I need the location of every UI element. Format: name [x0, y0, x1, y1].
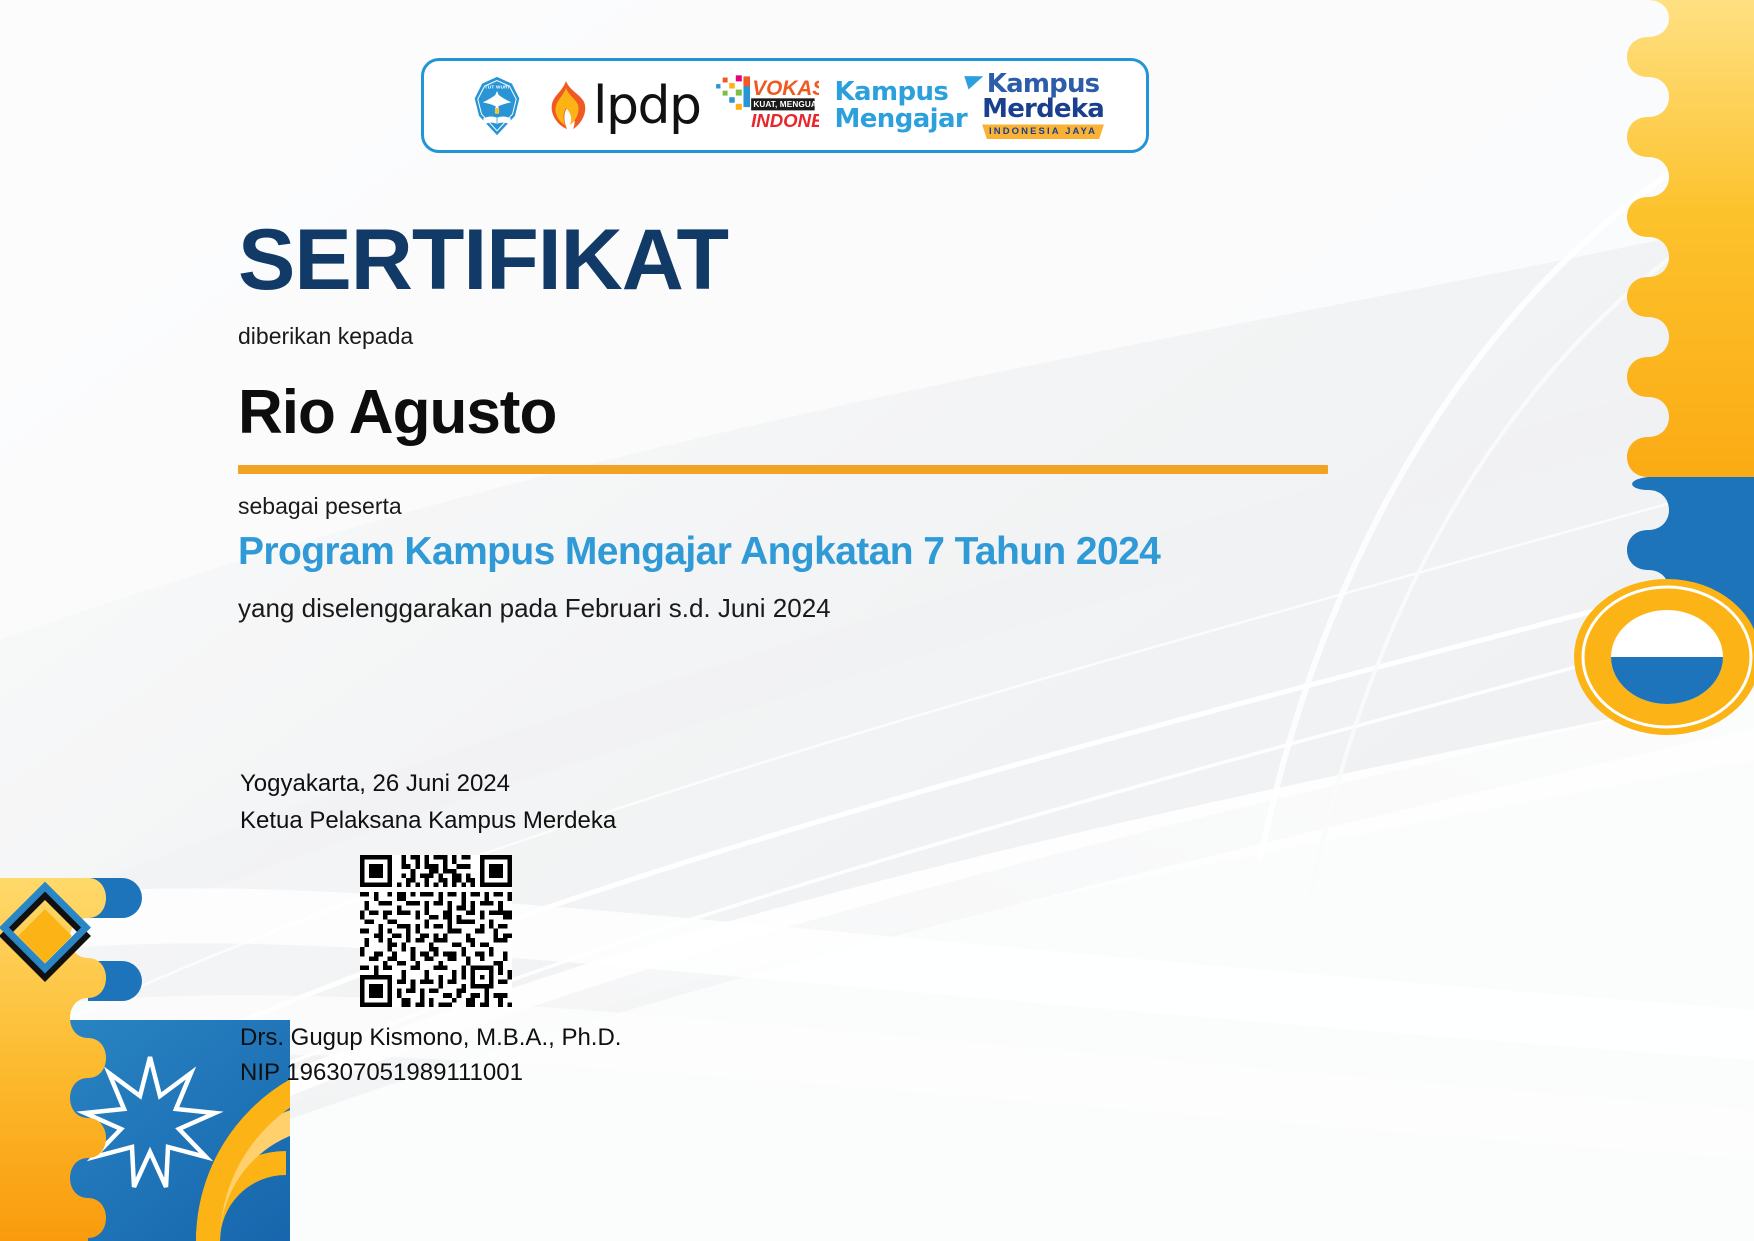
- certificate-canvas: TUT WURI lpdp: [0, 0, 1754, 1241]
- kampus-merdeka-logo: Kampus Merdeka INDONESIA JAYA: [982, 70, 1104, 142]
- kampus-merdeka-line2: Merdeka: [982, 97, 1104, 122]
- program-period: yang diselenggarakan pada Februari s.d. …: [238, 593, 1358, 624]
- signature-block: Yogyakarta, 26 Juni 2024 Ketua Pelaksana…: [240, 765, 621, 1091]
- tut-wuri-handayani-logo: TUT WURI: [466, 70, 528, 142]
- right-edge-decoration: [1544, 0, 1754, 790]
- svg-text:TUT WURI: TUT WURI: [485, 84, 510, 89]
- role-label: sebagai peserta: [238, 493, 1358, 520]
- place-and-date: Yogyakarta, 26 Juni 2024: [240, 765, 621, 802]
- certificate-title: SERTIFIKAT: [238, 215, 1358, 305]
- given-to-label: diberikan kepada: [238, 323, 1358, 350]
- orange-divider-rule: [238, 465, 1328, 474]
- lpdp-wordmark: lpdp: [593, 80, 700, 132]
- vokasi-logo: VOKASI KUAT, MENGUATKAN INDONESIA: [715, 70, 819, 142]
- kampus-merdeka-ribbon: INDONESIA JAYA: [982, 124, 1104, 139]
- recipient-name: Rio Agusto: [238, 380, 1358, 445]
- kampus-mengajar-logo: Kampus Mengajar: [834, 70, 967, 142]
- signer-nip: NIP 196307051989111001: [240, 1056, 621, 1091]
- signer-position: Ketua Pelaksana Kampus Merdeka: [240, 802, 621, 839]
- kampus-mengajar-line1: Kampus: [834, 79, 967, 106]
- program-name: Program Kampus Mengajar Angkatan 7 Tahun…: [238, 530, 1358, 575]
- orange-ring-decoration: [1574, 579, 1754, 735]
- svg-text:KUAT, MENGUATKAN: KUAT, MENGUATKAN: [754, 100, 820, 109]
- kampus-mengajar-line2: Mengajar: [834, 106, 967, 133]
- lpdp-logo: lpdp: [543, 70, 700, 142]
- logo-bar: TUT WURI lpdp: [421, 58, 1149, 153]
- vokasi-word: VOKASI: [753, 77, 820, 100]
- certificate-body: SERTIFIKAT diberikan kepada Rio Agusto s…: [238, 215, 1358, 624]
- yellow-scallop-band: [1627, 0, 1754, 477]
- qr-code[interactable]: [360, 855, 621, 1007]
- svg-text:INDONESIA: INDONESIA: [752, 109, 820, 130]
- lpdp-flame-icon: [543, 78, 589, 134]
- signer-name: Drs. Gugup Kismono, M.B.A., Ph.D.: [240, 1021, 621, 1056]
